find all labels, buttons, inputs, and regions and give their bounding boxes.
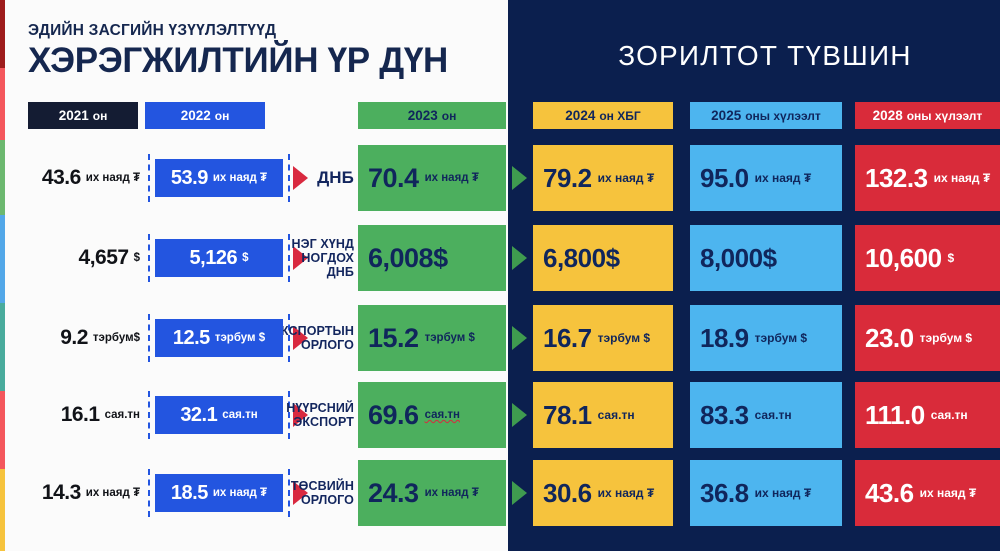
value-unit: тэрбум $	[920, 331, 973, 345]
value-cell-2023[interactable]: 69.6сая.тн	[358, 382, 506, 448]
column-header-2028[interactable]: 2028 оны хүлээлт	[855, 102, 1000, 129]
value-cell-2024[interactable]: 6,800$	[533, 225, 673, 291]
value-unit: их наяд ₮	[425, 172, 479, 184]
value-unit: сая.тн	[755, 408, 792, 422]
value-unit: их наяд ₮	[755, 486, 812, 500]
target-section-title: ЗОРИЛТОТ ТҮВШИН	[540, 40, 990, 72]
row-label: НҮҮРСНИЙ ЭКСПОРТ	[272, 382, 354, 448]
value-cell-2025[interactable]: 8,000$	[690, 225, 842, 291]
column-header-2023-year: 2023	[408, 108, 438, 123]
title-block: ЭДИЙН ЗАСГИЙН ҮЗҮҮЛЭЛТҮҮД ХЭРЭГЖИЛТИЙН Ү…	[28, 22, 448, 80]
value-unit: их наяд ₮	[213, 487, 267, 499]
value-unit: их наяд ₮	[86, 487, 140, 499]
value-unit: их наяд ₮	[425, 487, 479, 499]
edge-strip-segment-0	[0, 0, 5, 68]
column-header-2021[interactable]: 2021 он	[28, 102, 138, 129]
page-title: ХЭРЭГЖИЛТИЙН ҮР ДҮН	[28, 41, 448, 80]
value-cell-2022[interactable]: 32.1сая.тн	[155, 396, 283, 434]
value-cell-2025[interactable]: 36.8их наяд ₮	[690, 460, 842, 526]
column-header-2025-year: 2025	[711, 108, 741, 123]
value-unit: сая.тн	[105, 409, 140, 421]
value-cell-2021[interactable]: 4,657$	[14, 225, 140, 291]
target-arrow-icon	[512, 246, 527, 270]
value-cell-2028[interactable]: 43.6их наяд ₮	[855, 460, 1000, 526]
value-cell-2023[interactable]: 70.4их наяд ₮	[358, 145, 506, 211]
row-label: ДНБ	[272, 145, 354, 211]
column-header-2021-year: 2021	[59, 108, 89, 123]
value-cell-2021[interactable]: 43.6их наяд ₮	[14, 145, 140, 211]
value-unit: их наяд ₮	[213, 172, 267, 184]
value-number: 30.6	[543, 478, 592, 509]
column-header-2028-suffix: оны хүлээлт	[907, 109, 983, 123]
dashed-divider-left	[148, 234, 150, 282]
value-number: 4,657	[79, 246, 129, 270]
value-cell-2022[interactable]: 5,126$	[155, 239, 283, 277]
value-number: 23.0	[865, 323, 914, 354]
value-number: 5,126	[190, 247, 238, 270]
value-unit: их наяд ₮	[86, 172, 140, 184]
value-number: 18.9	[700, 323, 749, 354]
value-unit: сая.тн	[222, 409, 257, 421]
value-number: 14.3	[42, 481, 81, 505]
dashed-divider-left	[148, 314, 150, 362]
value-cell-2024[interactable]: 16.7тэрбум $	[533, 305, 673, 371]
value-unit: тэрбум $	[598, 331, 651, 345]
value-number: 79.2	[543, 163, 592, 194]
column-header-2023-suffix: он	[442, 109, 457, 123]
value-unit: их наяд ₮	[934, 171, 991, 185]
value-number: 6,800$	[543, 243, 620, 274]
column-header-2024[interactable]: 2024 он ХБГ	[533, 102, 673, 129]
table-row: ЭКСПОРТЫН ОРЛОГО9.2тэрбум$12.5тэрбум $15…	[0, 305, 1000, 371]
value-unit: их наяд ₮	[598, 486, 655, 500]
column-header-2025-suffix: оны хүлээлт	[745, 109, 821, 123]
value-cell-2021[interactable]: 14.3их наяд ₮	[14, 460, 140, 526]
value-unit: сая.тн	[425, 409, 460, 421]
value-number: 70.4	[368, 163, 419, 194]
table-row: НҮҮРСНИЙ ЭКСПОРТ16.1сая.тн32.1сая.тн69.6…	[0, 382, 1000, 448]
value-number: 83.3	[700, 400, 749, 431]
row-label: НЭГ ХҮНД НОГДОХ ДНБ	[272, 225, 354, 291]
value-number: 6,008$	[368, 243, 448, 274]
value-unit: $	[948, 251, 955, 265]
dashed-divider-left	[148, 469, 150, 517]
edge-strip-segment-1	[0, 68, 5, 140]
value-cell-2028[interactable]: 10,600$	[855, 225, 1000, 291]
value-unit: тэрбум $	[755, 331, 808, 345]
value-cell-2023[interactable]: 6,008$	[358, 225, 506, 291]
target-arrow-icon	[512, 481, 527, 505]
value-cell-2024[interactable]: 30.6их наяд ₮	[533, 460, 673, 526]
value-unit: тэрбум $	[215, 332, 265, 344]
column-header-2022-year: 2022	[181, 108, 211, 123]
value-unit: сая.тн	[931, 408, 968, 422]
column-header-2024-suffix: он ХБГ	[599, 109, 640, 123]
value-number: 8,000$	[700, 243, 777, 274]
value-cell-2025[interactable]: 83.3сая.тн	[690, 382, 842, 448]
value-unit: их наяд ₮	[755, 171, 812, 185]
value-unit: $	[134, 252, 140, 264]
infographic-root: ЭДИЙН ЗАСГИЙН ҮЗҮҮЛЭЛТҮҮД ХЭРЭГЖИЛТИЙН Ү…	[0, 0, 1000, 551]
value-number: 36.8	[700, 478, 749, 509]
value-cell-2023[interactable]: 24.3их наяд ₮	[358, 460, 506, 526]
value-number: 12.5	[173, 327, 210, 350]
value-number: 16.7	[543, 323, 592, 354]
value-cell-2025[interactable]: 95.0их наяд ₮	[690, 145, 842, 211]
value-cell-2028[interactable]: 111.0сая.тн	[855, 382, 1000, 448]
value-number: 53.9	[171, 167, 208, 190]
table-row: НЭГ ХҮНД НОГДОХ ДНБ4,657$5,126$6,008$6,8…	[0, 225, 1000, 291]
column-header-2024-year: 2024	[565, 108, 595, 123]
column-header-2022[interactable]: 2022 он	[145, 102, 265, 129]
dashed-divider-left	[148, 391, 150, 439]
row-label: ТӨСВИЙН ОРЛОГО	[272, 460, 354, 526]
value-number: 43.6	[865, 478, 914, 509]
value-number: 95.0	[700, 163, 749, 194]
value-unit: тэрбум $	[425, 332, 475, 344]
value-number: 24.3	[368, 478, 419, 509]
value-unit: их наяд ₮	[598, 171, 655, 185]
column-header-2025[interactable]: 2025 оны хүлээлт	[690, 102, 842, 129]
dashed-divider-left	[148, 154, 150, 202]
column-header-2022-suffix: он	[215, 109, 230, 123]
value-cell-2023[interactable]: 15.2тэрбум $	[358, 305, 506, 371]
value-cell-2021[interactable]: 16.1сая.тн	[14, 382, 140, 448]
value-number: 69.6	[368, 400, 419, 431]
value-number: 111.0	[865, 400, 925, 431]
value-unit: сая.тн	[598, 408, 635, 422]
value-cell-2024[interactable]: 78.1сая.тн	[533, 382, 673, 448]
value-number: 132.3	[865, 163, 928, 194]
target-arrow-icon	[512, 403, 527, 427]
table-row: ТӨСВИЙН ОРЛОГО14.3их наяд ₮18.5их наяд ₮…	[0, 460, 1000, 526]
value-cell-2025[interactable]: 18.9тэрбум $	[690, 305, 842, 371]
column-header-2028-year: 2028	[873, 108, 903, 123]
table-row: ДНБ43.6их наяд ₮53.9их наяд ₮70.4их наяд…	[0, 145, 1000, 211]
value-cell-2022[interactable]: 18.5их наяд ₮	[155, 474, 283, 512]
value-unit: тэрбум$	[93, 332, 140, 344]
column-header-2021-suffix: он	[93, 109, 108, 123]
value-number: 32.1	[180, 404, 217, 427]
value-unit: их наяд ₮	[920, 486, 977, 500]
column-header-2023[interactable]: 2023 он	[358, 102, 506, 129]
target-arrow-icon	[512, 166, 527, 190]
value-number: 78.1	[543, 400, 592, 431]
row-label: ЭКСПОРТЫН ОРЛОГО	[272, 305, 354, 371]
value-number: 18.5	[171, 482, 208, 505]
value-cell-2028[interactable]: 23.0тэрбум $	[855, 305, 1000, 371]
value-cell-2022[interactable]: 12.5тэрбум $	[155, 319, 283, 357]
value-cell-2024[interactable]: 79.2их наяд ₮	[533, 145, 673, 211]
value-number: 16.1	[61, 403, 100, 427]
value-cell-2028[interactable]: 132.3их наяд ₮	[855, 145, 1000, 211]
subtitle-text: ЭДИЙН ЗАСГИЙН ҮЗҮҮЛЭЛТҮҮД	[28, 22, 448, 39]
target-arrow-icon	[512, 326, 527, 350]
value-number: 9.2	[60, 326, 88, 350]
value-number: 10,600	[865, 243, 942, 274]
value-unit: $	[242, 252, 248, 264]
value-cell-2021[interactable]: 9.2тэрбум$	[14, 305, 140, 371]
value-number: 43.6	[42, 166, 81, 190]
value-cell-2022[interactable]: 53.9их наяд ₮	[155, 159, 283, 197]
value-number: 15.2	[368, 323, 419, 354]
